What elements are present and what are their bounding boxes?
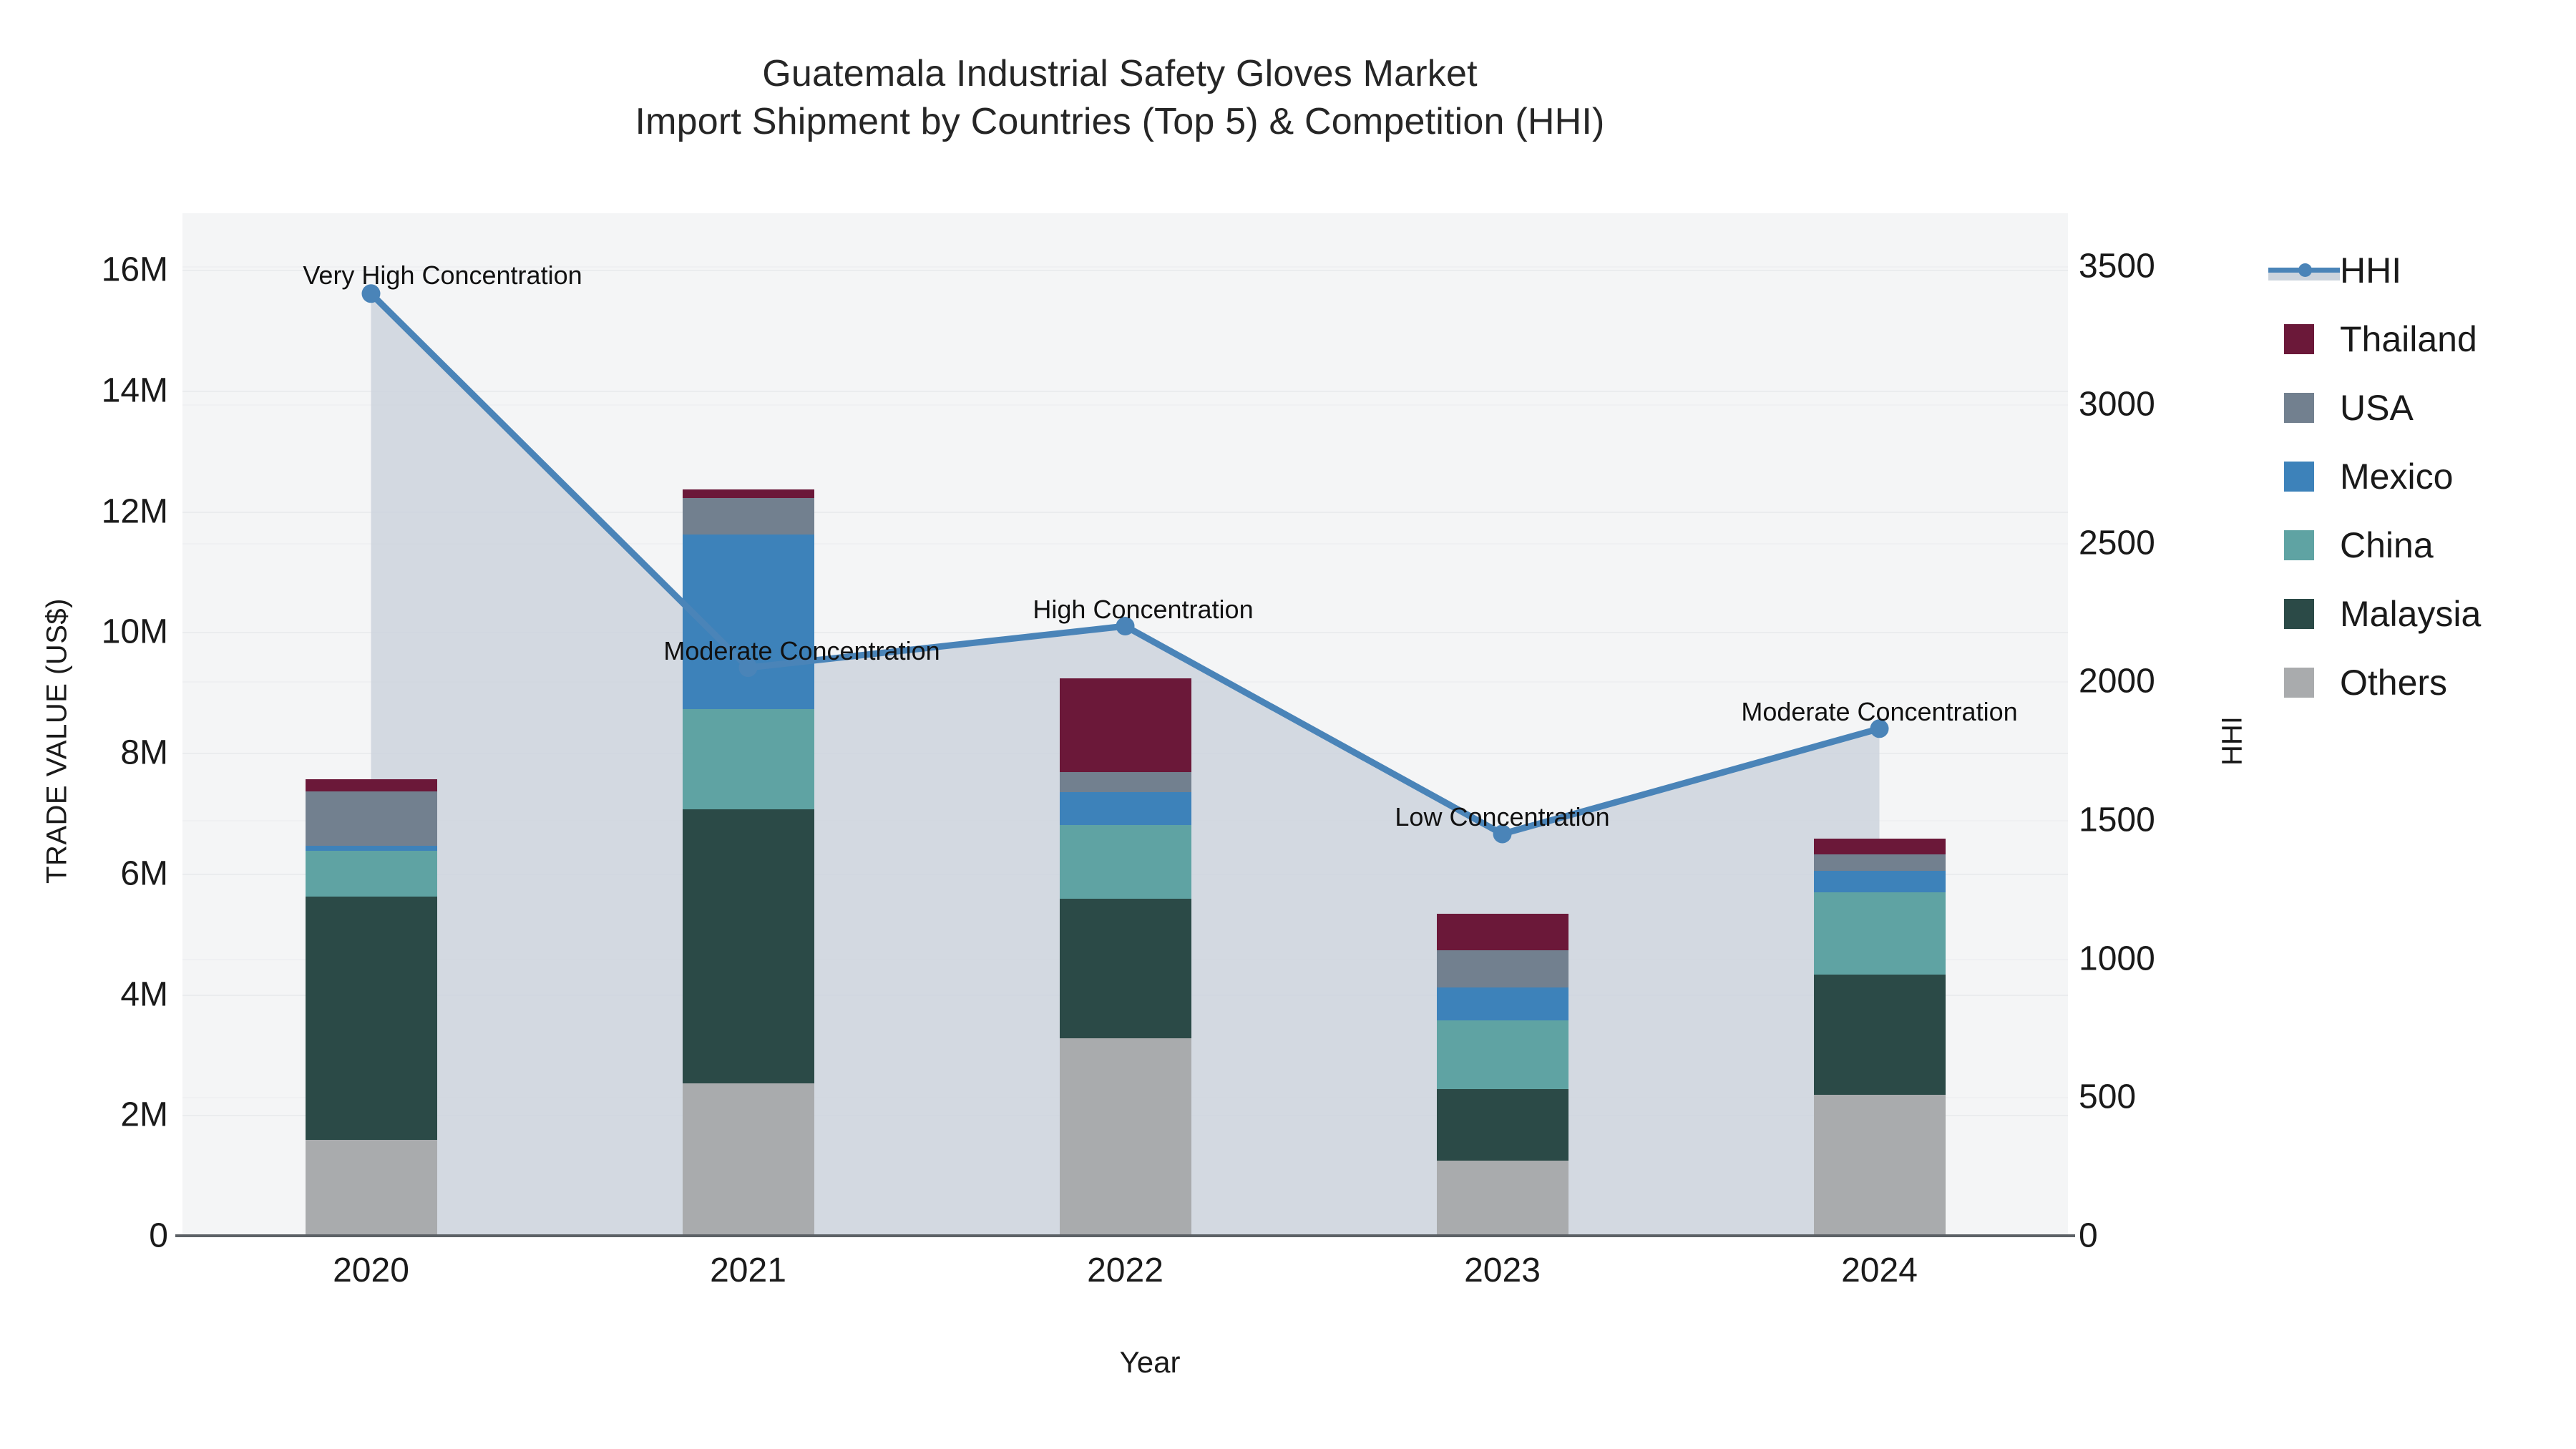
legend-swatch-icon: [2284, 668, 2314, 698]
y-axis-right-label: HHI: [2217, 598, 2249, 884]
annotation-2020: Very High Concentration: [303, 260, 582, 291]
y-tick-left: 12M: [0, 492, 168, 531]
hhi-polyline[interactable]: [371, 293, 1880, 834]
legend-label: USA: [2340, 387, 2414, 429]
legend-item-usa[interactable]: USA: [2268, 374, 2569, 442]
annotation-2022: High Concentration: [1033, 595, 1253, 625]
annotation-2021: Moderate Concentration: [663, 636, 940, 666]
chart-title: Guatemala Industrial Safety Gloves Marke…: [0, 50, 2240, 98]
x-tick-2023: 2023: [1395, 1251, 1610, 1290]
chart-canvas: Guatemala Industrial Safety Gloves Marke…: [0, 0, 2576, 1449]
x-tick-2024: 2024: [1772, 1251, 1987, 1290]
legend-label: Mexico: [2340, 456, 2453, 497]
legend-item-thailand[interactable]: Thailand: [2268, 305, 2569, 374]
annotation-2024: Moderate Concentration: [1741, 697, 2017, 727]
legend-label: Malaysia: [2340, 593, 2481, 635]
x-axis-label: Year: [864, 1345, 1436, 1380]
y-tick-left: 0: [0, 1216, 168, 1256]
legend-label: China: [2340, 525, 2434, 566]
y-tick-right: 0: [2079, 1216, 2243, 1256]
y-tick-left: 4M: [0, 975, 168, 1014]
y-tick-right: 3500: [2079, 246, 2243, 286]
y-tick-right: 3000: [2079, 385, 2243, 424]
legend-swatch-icon: [2284, 324, 2314, 354]
y-tick-left: 6M: [0, 854, 168, 893]
legend-label: Thailand: [2340, 318, 2477, 360]
x-axis-line: [175, 1234, 2075, 1237]
legend-item-mexico[interactable]: Mexico: [2268, 442, 2569, 511]
legend-swatch-icon: [2284, 393, 2314, 423]
chart-title-block: Guatemala Industrial Safety Gloves Marke…: [0, 50, 2240, 145]
x-tick-2021: 2021: [641, 1251, 856, 1290]
legend-label: Others: [2340, 662, 2447, 703]
x-tick-2022: 2022: [1018, 1251, 1233, 1290]
y-axis-left-label: TRADE VALUE (US$): [42, 455, 74, 1028]
y-tick-right: 500: [2079, 1078, 2243, 1117]
legend-label: HHI: [2340, 250, 2401, 291]
legend-item-hhi[interactable]: HHI: [2268, 236, 2569, 305]
chart-subtitle: Import Shipment by Countries (Top 5) & C…: [0, 98, 2240, 146]
chart-legend: HHIThailandUSAMexicoChinaMalaysiaOthers: [2268, 236, 2569, 717]
legend-item-china[interactable]: China: [2268, 511, 2569, 580]
x-tick-2020: 2020: [264, 1251, 479, 1290]
y-tick-right: 1000: [2079, 939, 2243, 978]
y-tick-left: 8M: [0, 733, 168, 773]
annotation-2023: Low Concentration: [1395, 802, 1609, 832]
y-tick-right: 2500: [2079, 523, 2243, 562]
legend-swatch-icon: [2284, 462, 2314, 492]
y-tick-left: 14M: [0, 371, 168, 411]
y-tick-left: 2M: [0, 1096, 168, 1135]
legend-swatch-icon: [2284, 599, 2314, 629]
legend-item-others[interactable]: Others: [2268, 648, 2569, 717]
y-tick-left: 16M: [0, 250, 168, 290]
y-tick-left: 10M: [0, 613, 168, 652]
legend-item-malaysia[interactable]: Malaysia: [2268, 580, 2569, 648]
legend-line-icon: [2268, 255, 2340, 286]
legend-swatch-icon: [2284, 530, 2314, 560]
